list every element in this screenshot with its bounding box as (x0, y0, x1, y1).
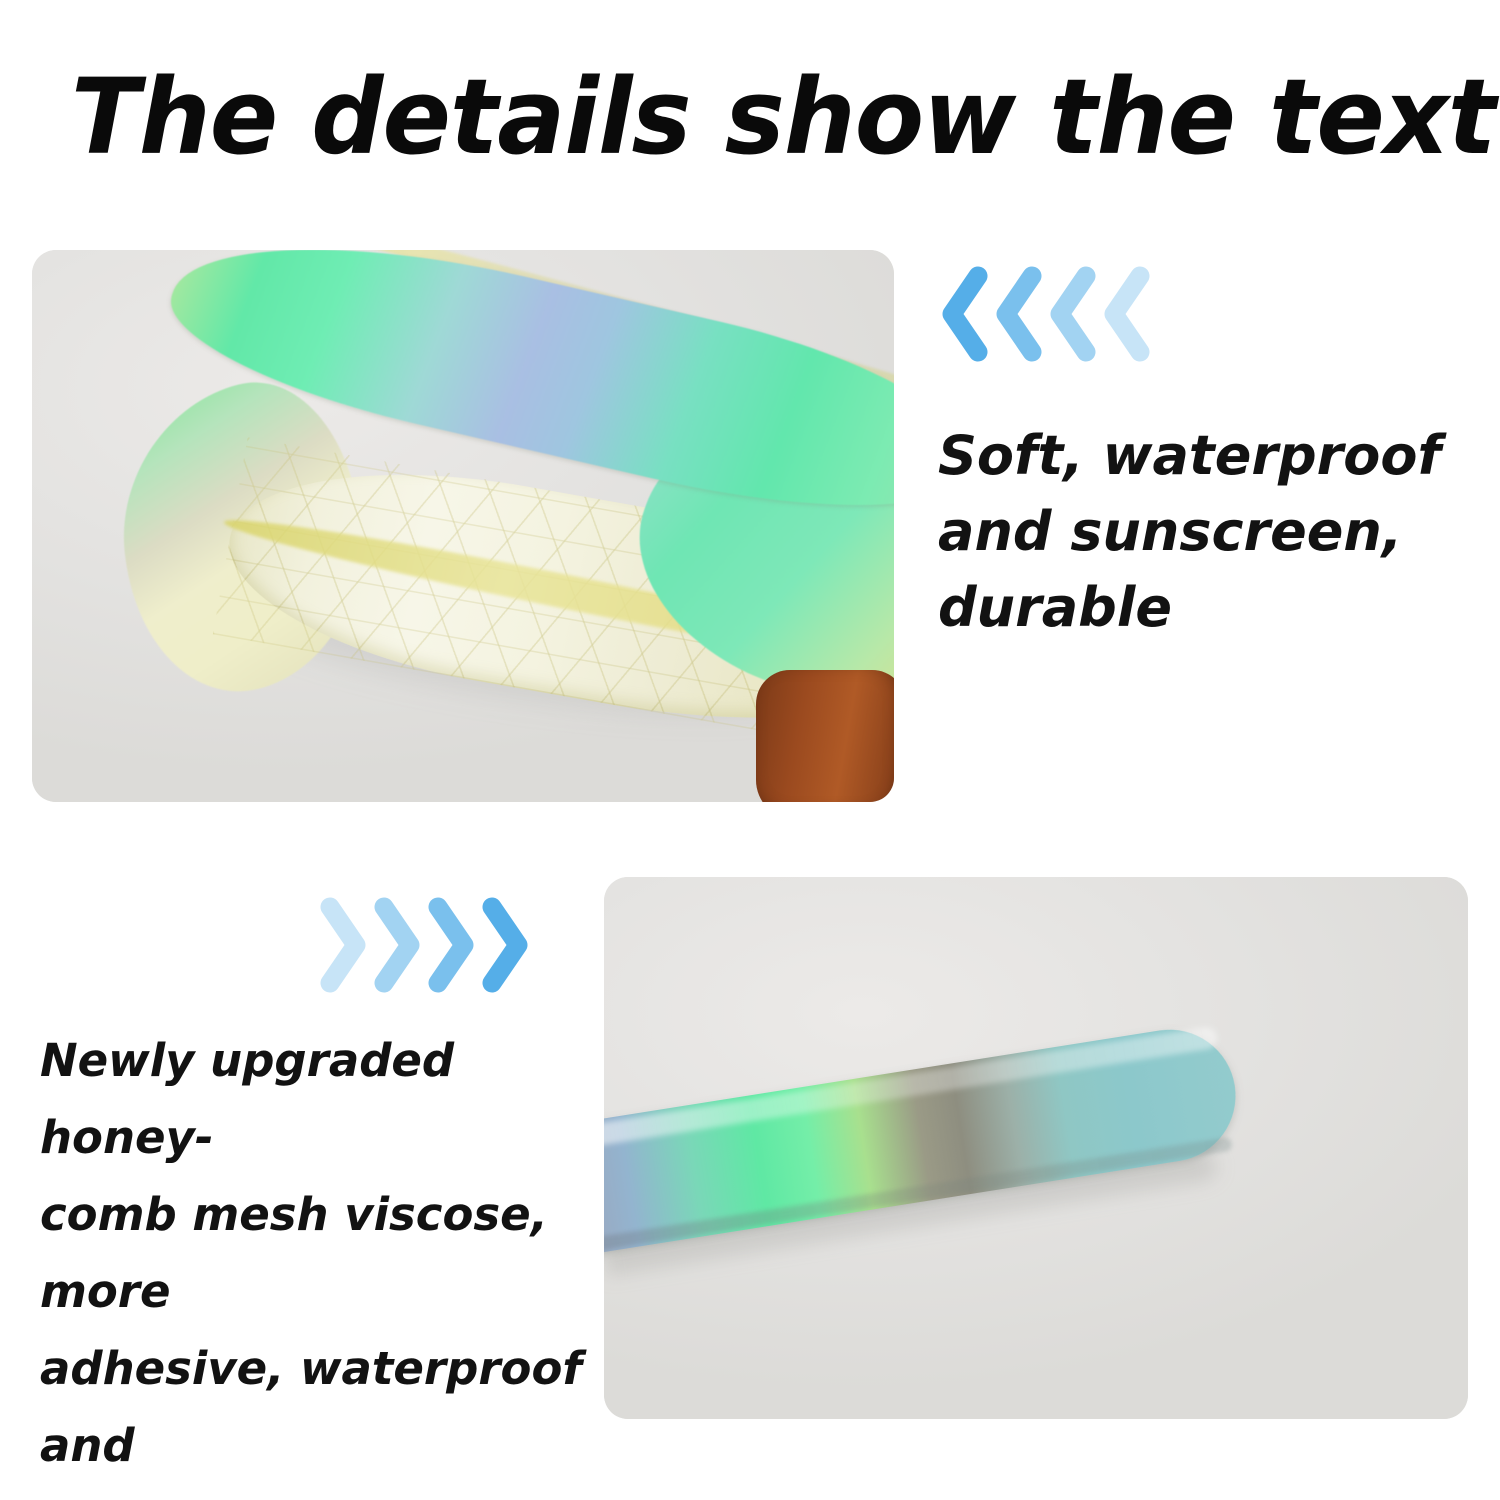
page-title: The details show the texture (71, 62, 1429, 172)
chevrons-right-icon-group (318, 890, 533, 1000)
chevron-left-icon (1046, 258, 1098, 370)
wooden-surface (756, 670, 894, 802)
caption-text: Newly upgraded honey- comb mesh viscose,… (40, 1022, 585, 1500)
caption-soft-waterproof: Soft, waterproof and sunscreen, durable (938, 418, 1448, 646)
chevron-right-icon (480, 890, 532, 1000)
caption-text: Soft, waterproof and sunscreen, durable (938, 418, 1448, 646)
photo-tape-strip (604, 877, 1468, 1419)
chevron-right-icon (372, 890, 424, 1000)
chevron-right-icon (318, 890, 370, 1000)
caption-honeycomb-mesh: Newly upgraded honey- comb mesh viscose,… (40, 1022, 585, 1500)
chevron-left-icon (992, 258, 1044, 370)
chevrons-left-icon-group (938, 258, 1153, 370)
chevron-right-icon (426, 890, 478, 1000)
chevron-left-icon (1100, 258, 1152, 370)
infographic-page: The details show the texture (0, 0, 1500, 1500)
photo-tape-loop (32, 250, 894, 802)
chevron-left-icon (938, 258, 990, 370)
